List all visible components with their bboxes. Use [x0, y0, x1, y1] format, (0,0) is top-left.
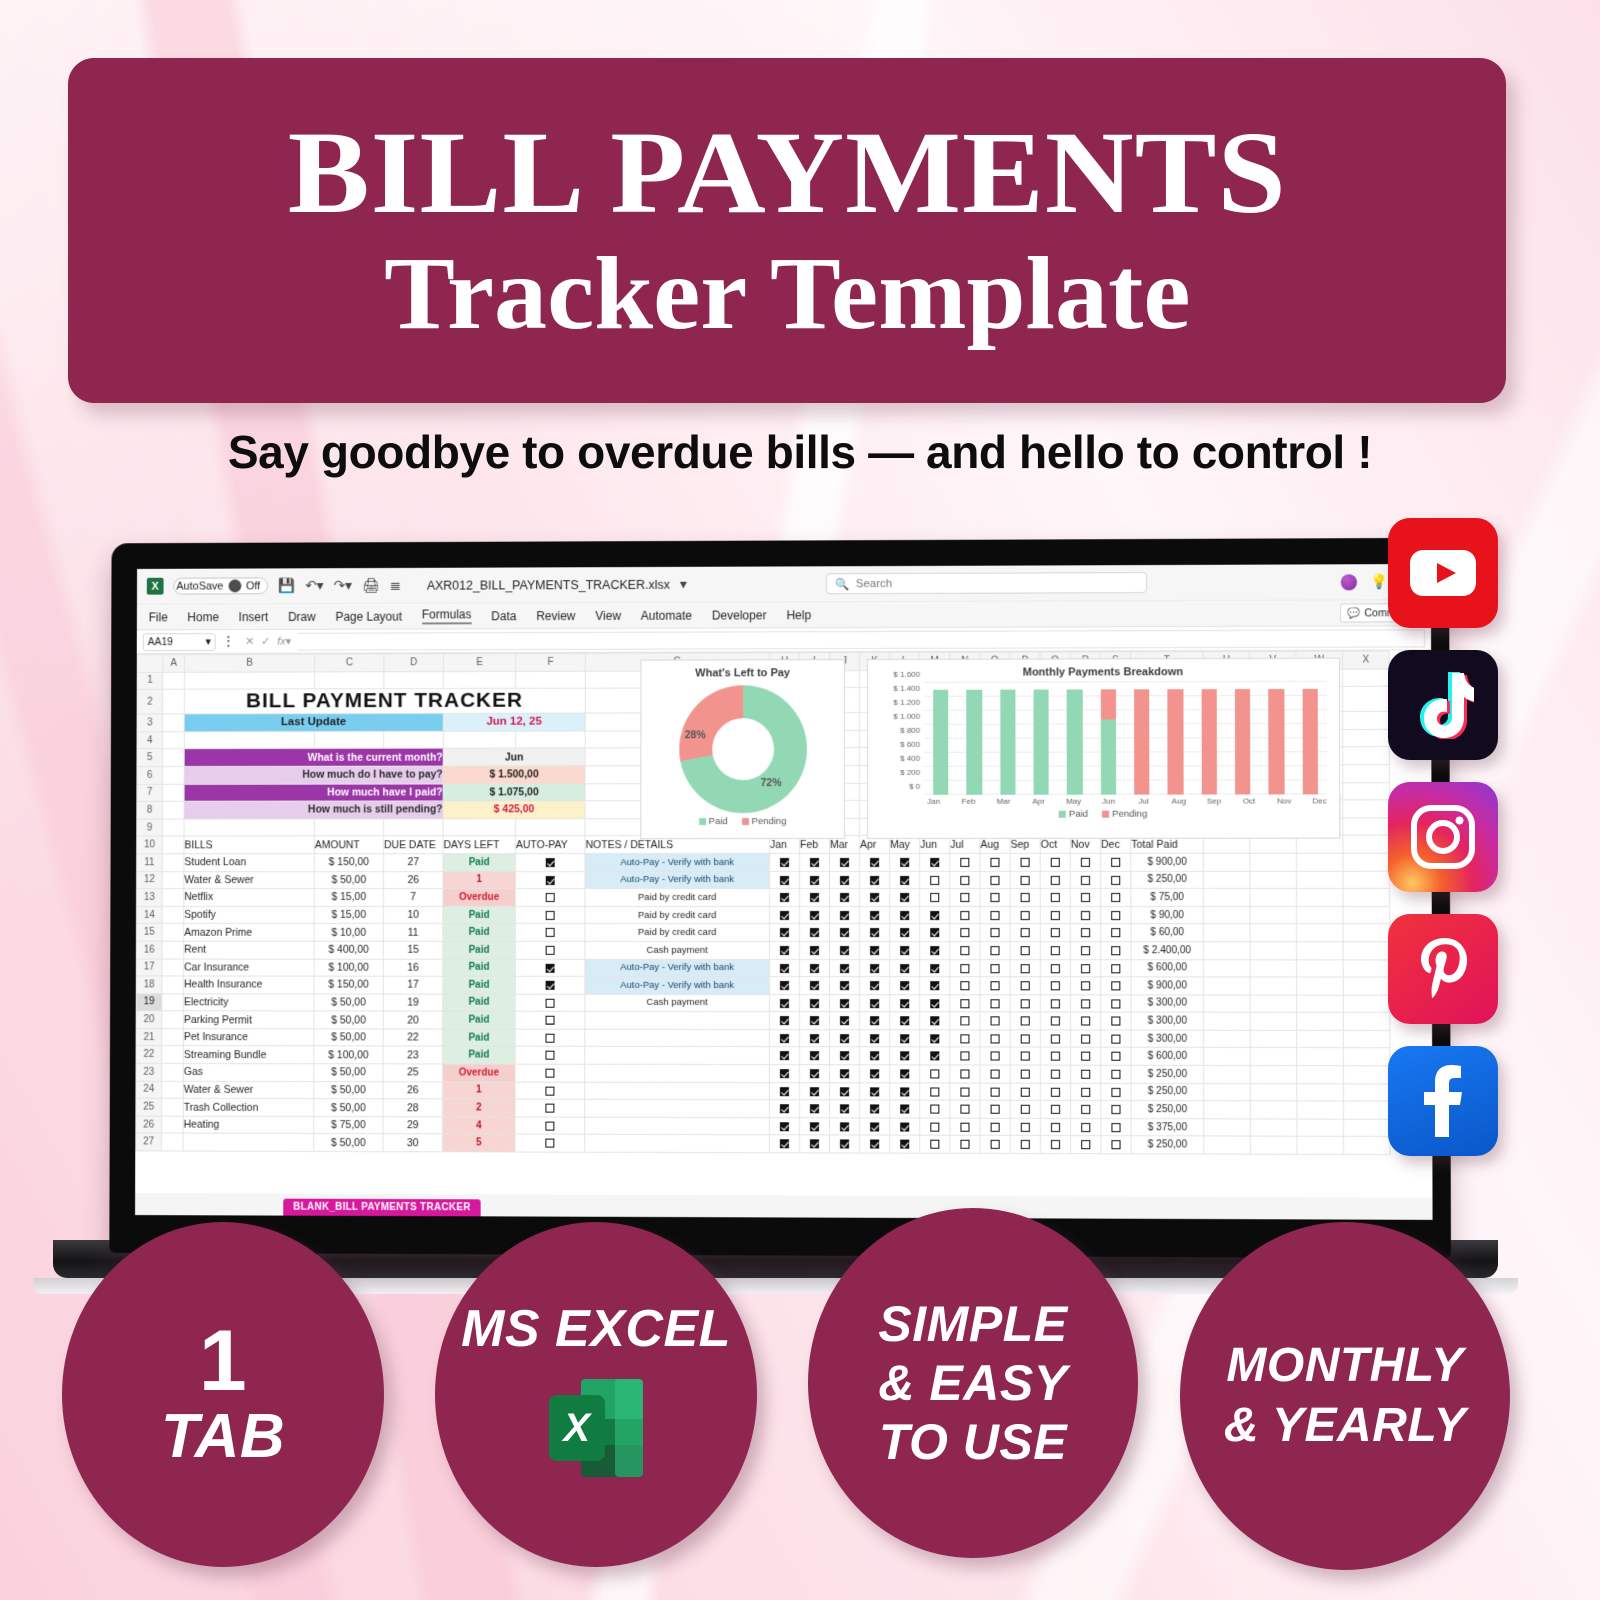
- cell-X[interactable]: [1343, 924, 1390, 942]
- cell-O[interactable]: [980, 889, 1010, 907]
- cell-H[interactable]: [769, 906, 799, 924]
- avatar[interactable]: [1340, 574, 1356, 590]
- cell-J[interactable]: [830, 906, 860, 924]
- cell-N[interactable]: [950, 994, 980, 1012]
- cell-I[interactable]: [799, 1135, 829, 1153]
- cell-P[interactable]: [1010, 853, 1040, 871]
- month-checkbox[interactable]: [1021, 964, 1030, 973]
- cell-U[interactable]: [1204, 995, 1251, 1013]
- month-checkbox[interactable]: [810, 1052, 819, 1061]
- cell-U[interactable]: [1204, 942, 1251, 960]
- cell-C[interactable]: $ 50,00: [314, 1099, 383, 1117]
- month-checkbox[interactable]: [1051, 1070, 1060, 1079]
- auto-pay-checkbox[interactable]: [546, 963, 555, 972]
- cell-S[interactable]: [1101, 853, 1131, 871]
- cell-E[interactable]: Overdue: [443, 1064, 516, 1082]
- ribbon-tab-data[interactable]: Data: [491, 609, 516, 623]
- month-checkbox[interactable]: [1111, 1034, 1120, 1043]
- cell-S[interactable]: [1101, 1065, 1131, 1083]
- cell-G[interactable]: [585, 1082, 770, 1100]
- save-icon[interactable]: 💾: [278, 577, 295, 594]
- auto-pay-checkbox[interactable]: [545, 1086, 554, 1095]
- cell-O[interactable]: [980, 1136, 1010, 1154]
- donut-chart[interactable]: What's Left to Pay 28% 72% Paid Pending: [640, 659, 845, 839]
- cell-H[interactable]: [769, 889, 799, 907]
- cell-A[interactable]: [163, 732, 185, 749]
- cell-X[interactable]: [1343, 906, 1390, 924]
- cell-R[interactable]: [1071, 1083, 1101, 1101]
- month-checkbox[interactable]: [930, 1087, 939, 1096]
- month-checkbox[interactable]: [1111, 999, 1120, 1008]
- month-checkbox[interactable]: [810, 1140, 819, 1149]
- month-checkbox[interactable]: [810, 1069, 819, 1078]
- cell-G[interactable]: Cash payment: [585, 941, 770, 959]
- cell-M[interactable]: [920, 1030, 950, 1048]
- cell-X[interactable]: [1343, 871, 1390, 889]
- print-preview-icon[interactable]: 🖨: [362, 577, 380, 594]
- month-checkbox[interactable]: [930, 911, 939, 920]
- cell-K[interactable]: [860, 1030, 890, 1048]
- cell-W[interactable]: [1297, 977, 1344, 995]
- cell-V[interactable]: [1250, 942, 1297, 960]
- month-checkbox[interactable]: [930, 1140, 939, 1149]
- cell-A[interactable]: [162, 1046, 184, 1064]
- cell-S[interactable]: [1101, 959, 1131, 977]
- ribbon-tab-review[interactable]: Review: [536, 609, 575, 623]
- month-checkbox[interactable]: [960, 964, 969, 973]
- cell-D[interactable]: 23: [383, 1046, 443, 1064]
- cell-M[interactable]: [920, 941, 950, 959]
- month-checkbox[interactable]: [930, 1034, 939, 1043]
- auto-pay-checkbox[interactable]: [546, 928, 555, 937]
- cell-B[interactable]: Last Update: [184, 714, 443, 732]
- month-checkbox[interactable]: [1021, 946, 1030, 955]
- cell-A[interactable]: [162, 906, 184, 923]
- cell-L[interactable]: [890, 1030, 920, 1048]
- cell-K[interactable]: [860, 994, 890, 1012]
- row-header-8[interactable]: 8: [137, 801, 163, 818]
- cell-E[interactable]: Paid: [443, 941, 516, 959]
- more-commands-icon[interactable]: ≣: [389, 577, 401, 594]
- month-checkbox[interactable]: [870, 928, 879, 937]
- cell-O[interactable]: [980, 924, 1010, 942]
- cell-I[interactable]: [799, 924, 829, 942]
- cell-M[interactable]: [920, 959, 950, 977]
- month-checkbox[interactable]: [1081, 911, 1090, 920]
- cell-N[interactable]: [950, 924, 980, 942]
- cell-F[interactable]: [515, 994, 585, 1012]
- cell-B[interactable]: BILL PAYMENT TRACKER: [184, 688, 585, 714]
- row-header-10[interactable]: 10: [137, 836, 163, 853]
- cell-T[interactable]: $ 375,00: [1131, 1118, 1204, 1136]
- month-checkbox[interactable]: [1081, 999, 1090, 1008]
- ribbon-tab-help[interactable]: Help: [786, 608, 811, 622]
- cell-C[interactable]: $ 100,00: [314, 1046, 383, 1064]
- cell-E[interactable]: 5: [442, 1134, 515, 1152]
- month-checkbox[interactable]: [810, 1034, 819, 1043]
- cell-O[interactable]: [980, 959, 1010, 977]
- month-checkbox[interactable]: [780, 981, 789, 990]
- cell-N[interactable]: [950, 1030, 980, 1048]
- cell-J[interactable]: [830, 924, 860, 942]
- month-checkbox[interactable]: [900, 893, 909, 902]
- cell-A[interactable]: [162, 941, 184, 958]
- cell-S[interactable]: [1101, 1012, 1131, 1030]
- cell-V[interactable]: [1250, 1101, 1297, 1119]
- month-checkbox[interactable]: [900, 964, 909, 973]
- cell-T[interactable]: $ 300,00: [1131, 995, 1204, 1013]
- month-checkbox[interactable]: [1021, 875, 1030, 884]
- cell-D[interactable]: 17: [383, 976, 443, 994]
- month-checkbox[interactable]: [991, 1070, 1000, 1079]
- cell-V[interactable]: [1250, 1030, 1297, 1048]
- month-checkbox[interactable]: [1021, 893, 1030, 902]
- bar-chart[interactable]: Monthly Payments Breakdown $ 0$ 200$ 400…: [867, 658, 1340, 839]
- cell-O[interactable]: [980, 1100, 1010, 1118]
- cell-X[interactable]: [1343, 1084, 1390, 1102]
- cell-E[interactable]: Paid: [443, 976, 516, 994]
- cell-X[interactable]: [1343, 800, 1390, 818]
- ribbon-tab-insert[interactable]: Insert: [239, 610, 269, 624]
- month-checkbox[interactable]: [930, 893, 939, 902]
- cell-J[interactable]: [830, 871, 860, 889]
- cell-B[interactable]: Netflix: [184, 889, 314, 906]
- cell-D[interactable]: 27: [383, 854, 442, 872]
- cell-W[interactable]: [1297, 1066, 1344, 1084]
- cell-H[interactable]: [770, 853, 800, 871]
- cell-P[interactable]: [1010, 977, 1040, 995]
- cell-B[interactable]: Health Insurance: [184, 976, 314, 994]
- cell-O[interactable]: [980, 906, 1010, 924]
- month-checkbox[interactable]: [900, 1034, 909, 1043]
- cell-N[interactable]: [950, 1065, 980, 1083]
- month-checkbox[interactable]: [991, 1034, 1000, 1043]
- cell-A[interactable]: [162, 819, 184, 836]
- cell-K[interactable]: [860, 853, 890, 871]
- column-header-C[interactable]: C: [315, 654, 384, 672]
- cell-E[interactable]: Jun 12, 25: [443, 713, 585, 731]
- cell-K[interactable]: [860, 871, 890, 889]
- cell-A[interactable]: [163, 689, 185, 714]
- month-checkbox[interactable]: [810, 1016, 819, 1025]
- cell-V[interactable]: [1250, 871, 1297, 889]
- month-checkbox[interactable]: [960, 1052, 969, 1061]
- month-checkbox[interactable]: [1081, 875, 1090, 884]
- cell-B[interactable]: Water & Sewer: [184, 871, 314, 889]
- cell-W[interactable]: [1297, 1119, 1344, 1137]
- month-checkbox[interactable]: [930, 946, 939, 955]
- cell-I[interactable]: [799, 959, 829, 977]
- month-checkbox[interactable]: [960, 858, 969, 867]
- cell-A[interactable]: [162, 1081, 184, 1099]
- cell-D[interactable]: 29: [383, 1117, 443, 1135]
- cell-U[interactable]: [1204, 1136, 1251, 1154]
- row-header-18[interactable]: 18: [136, 976, 162, 994]
- cell-B[interactable]: What is the current month?: [184, 749, 443, 767]
- cell-F[interactable]: [515, 1029, 585, 1047]
- month-checkbox[interactable]: [1051, 893, 1060, 902]
- month-checkbox[interactable]: [1111, 858, 1120, 867]
- cell-V[interactable]: [1250, 1048, 1297, 1066]
- cell-K[interactable]: [860, 1012, 890, 1030]
- file-name[interactable]: AXR012_BILL_PAYMENTS_TRACKER.xlsx: [427, 577, 670, 592]
- cell-J[interactable]: [830, 1082, 860, 1100]
- cell-F[interactable]: [515, 924, 585, 942]
- month-checkbox[interactable]: [1021, 1017, 1030, 1026]
- cell-U[interactable]: [1204, 1030, 1251, 1048]
- spreadsheet-grid[interactable]: ABCDEFGHIJKLMNOPQRSTUVWX 12BILL PAYMENT …: [135, 650, 1432, 1197]
- cell-D[interactable]: DUE DATE: [384, 836, 443, 854]
- tiktok-icon[interactable]: [1388, 650, 1498, 760]
- month-checkbox[interactable]: [870, 1052, 879, 1061]
- cell-T[interactable]: $ 250,00: [1131, 1101, 1204, 1119]
- cell-A[interactable]: [162, 959, 184, 976]
- cell-U[interactable]: [1203, 853, 1249, 871]
- month-checkbox[interactable]: [1081, 1123, 1090, 1132]
- column-header-D[interactable]: D: [384, 654, 443, 672]
- month-checkbox[interactable]: [1051, 1052, 1060, 1061]
- cell-B[interactable]: Spotify: [184, 906, 314, 924]
- cell-C[interactable]: $ 50,00: [314, 1081, 383, 1099]
- column-header-E[interactable]: E: [443, 654, 515, 672]
- cell-J[interactable]: [829, 1135, 859, 1153]
- cell-Q[interactable]: [1040, 1101, 1070, 1119]
- cell-E[interactable]: Overdue: [443, 889, 515, 907]
- cell-A[interactable]: [163, 714, 185, 731]
- cell-O[interactable]: [980, 977, 1010, 995]
- cell-M[interactable]: [920, 889, 950, 907]
- month-checkbox[interactable]: [840, 964, 849, 973]
- month-checkbox[interactable]: [900, 911, 909, 920]
- sheet-tab[interactable]: BLANK_BILL PAYMENTS TRACKER: [283, 1199, 480, 1217]
- cell-P[interactable]: [1010, 906, 1040, 924]
- cell-V[interactable]: [1250, 959, 1297, 977]
- month-checkbox[interactable]: [1081, 928, 1090, 937]
- month-checkbox[interactable]: [870, 999, 879, 1008]
- cell-Q[interactable]: [1040, 1118, 1070, 1136]
- cell-I[interactable]: [799, 994, 829, 1012]
- cell-X[interactable]: [1343, 853, 1390, 871]
- cell-T[interactable]: $ 2.400,00: [1131, 942, 1204, 960]
- cell-U[interactable]: [1204, 1012, 1251, 1030]
- cell-J[interactable]: [830, 1118, 860, 1136]
- month-checkbox[interactable]: [810, 999, 819, 1008]
- row-header-20[interactable]: 20: [136, 1011, 162, 1029]
- cell-E[interactable]: Paid: [443, 1029, 516, 1047]
- cell-K[interactable]: [860, 1082, 890, 1100]
- cell-M[interactable]: [920, 1136, 950, 1154]
- cell-K[interactable]: [860, 1100, 890, 1118]
- row-header-26[interactable]: 26: [136, 1116, 162, 1134]
- ribbon-tab-home[interactable]: Home: [187, 610, 219, 624]
- month-checkbox[interactable]: [930, 981, 939, 990]
- cell-B[interactable]: How much is still pending?: [184, 801, 443, 819]
- cell-H[interactable]: [769, 1012, 799, 1030]
- cell-Q[interactable]: [1040, 1030, 1070, 1048]
- cell-K[interactable]: [860, 977, 890, 995]
- cell-U[interactable]: [1204, 924, 1251, 942]
- cell-I[interactable]: [799, 1118, 829, 1136]
- cell-J[interactable]: [830, 853, 860, 871]
- cell-X[interactable]: [1343, 1119, 1390, 1137]
- month-checkbox[interactable]: [991, 981, 1000, 990]
- cell-X[interactable]: [1343, 782, 1390, 800]
- month-checkbox[interactable]: [1111, 981, 1120, 990]
- cell-N[interactable]: [950, 1047, 980, 1065]
- cell-B[interactable]: [183, 1134, 314, 1152]
- month-checkbox[interactable]: [1051, 1123, 1060, 1132]
- cell-E[interactable]: Jun: [443, 748, 585, 766]
- auto-pay-checkbox[interactable]: [546, 876, 555, 885]
- cell-S[interactable]: [1101, 924, 1131, 942]
- cell-C[interactable]: [315, 671, 384, 689]
- cell-T[interactable]: $ 300,00: [1131, 1012, 1204, 1030]
- auto-pay-checkbox[interactable]: [546, 946, 555, 955]
- month-checkbox[interactable]: [1051, 946, 1060, 955]
- cell-B[interactable]: Trash Collection: [183, 1099, 314, 1117]
- cell-L[interactable]: [890, 1065, 920, 1083]
- cell-Q[interactable]: [1040, 1083, 1070, 1101]
- month-checkbox[interactable]: [870, 981, 879, 990]
- cell-T[interactable]: $ 250,00: [1131, 1083, 1204, 1101]
- cell-R[interactable]: [1070, 924, 1100, 942]
- cell-E[interactable]: Paid: [443, 1011, 516, 1029]
- cell-C[interactable]: $ 15,00: [314, 906, 383, 924]
- month-checkbox[interactable]: [810, 1105, 819, 1114]
- cell-M[interactable]: [920, 1012, 950, 1030]
- cell-D[interactable]: 20: [383, 1011, 443, 1029]
- month-checkbox[interactable]: [1081, 1087, 1090, 1096]
- cell-S[interactable]: [1101, 1118, 1131, 1136]
- month-checkbox[interactable]: [930, 928, 939, 937]
- cell-S[interactable]: [1101, 977, 1131, 995]
- cell-L[interactable]: [890, 889, 920, 907]
- cell-P[interactable]: [1010, 1118, 1040, 1136]
- cell-L[interactable]: [890, 1100, 920, 1118]
- cell-B[interactable]: BILLS: [184, 836, 314, 854]
- cell-G[interactable]: Auto-Pay - Verify with bank: [585, 871, 770, 889]
- cell-X[interactable]: [1343, 729, 1390, 747]
- cell-R[interactable]: [1071, 1065, 1101, 1083]
- month-checkbox[interactable]: [870, 876, 879, 885]
- cell-J[interactable]: [830, 994, 860, 1012]
- cell-K[interactable]: [860, 1047, 890, 1065]
- month-checkbox[interactable]: [840, 1016, 849, 1025]
- month-checkbox[interactable]: [780, 1034, 789, 1043]
- cell-P[interactable]: [1010, 1083, 1040, 1101]
- cell-B[interactable]: Rent: [184, 941, 314, 959]
- month-checkbox[interactable]: [780, 1122, 789, 1131]
- function-icon[interactable]: fx▾: [277, 635, 291, 648]
- month-checkbox[interactable]: [1021, 1070, 1030, 1079]
- row-header-4[interactable]: 4: [137, 732, 163, 749]
- month-checkbox[interactable]: [900, 1087, 909, 1096]
- cell-V[interactable]: [1250, 889, 1297, 907]
- cell-P[interactable]: [1010, 1030, 1040, 1048]
- cell-I[interactable]: [799, 941, 829, 959]
- cell-Q[interactable]: [1040, 871, 1070, 889]
- cell-A[interactable]: [162, 994, 184, 1012]
- autosave-toggle[interactable]: AutoSave Off: [173, 577, 268, 594]
- cell-N[interactable]: [950, 1012, 980, 1030]
- month-checkbox[interactable]: [1111, 1052, 1120, 1061]
- month-checkbox[interactable]: [1111, 946, 1120, 955]
- month-checkbox[interactable]: [930, 858, 939, 867]
- youtube-icon[interactable]: [1388, 518, 1498, 628]
- cell-E[interactable]: [443, 819, 515, 837]
- cell-T[interactable]: $ 60,00: [1131, 924, 1204, 942]
- cell-J[interactable]: [830, 1030, 860, 1048]
- cell-K[interactable]: [860, 924, 890, 942]
- cell-O[interactable]: [980, 1083, 1010, 1101]
- cell-H[interactable]: [769, 994, 799, 1012]
- month-checkbox[interactable]: [780, 1069, 789, 1078]
- month-checkbox[interactable]: [900, 1052, 909, 1061]
- cell-G[interactable]: [585, 1012, 770, 1030]
- row-header-5[interactable]: 5: [137, 749, 163, 766]
- cell-U[interactable]: [1204, 1066, 1251, 1084]
- month-checkbox[interactable]: [1051, 981, 1060, 990]
- cell-W[interactable]: [1297, 1048, 1344, 1066]
- cell-N[interactable]: [950, 1100, 980, 1118]
- month-checkbox[interactable]: [1051, 1105, 1060, 1114]
- month-checkbox[interactable]: [991, 999, 1000, 1008]
- cell-I[interactable]: [799, 1082, 829, 1100]
- cell-C[interactable]: $ 50,00: [314, 994, 383, 1012]
- cell-D[interactable]: 22: [383, 1029, 443, 1047]
- month-checkbox[interactable]: [1021, 1123, 1030, 1132]
- cell-U[interactable]: [1204, 1048, 1251, 1066]
- cell-U[interactable]: [1204, 1083, 1251, 1101]
- cell-J[interactable]: [830, 977, 860, 995]
- cell-R[interactable]: [1070, 906, 1100, 924]
- cell-P[interactable]: [1010, 942, 1040, 960]
- cell-X[interactable]: [1343, 942, 1390, 960]
- cell-F[interactable]: [515, 959, 585, 977]
- month-checkbox[interactable]: [1081, 1034, 1090, 1043]
- month-checkbox[interactable]: [990, 928, 999, 937]
- month-checkbox[interactable]: [870, 911, 879, 920]
- cell-E[interactable]: Paid: [443, 994, 516, 1012]
- month-checkbox[interactable]: [840, 858, 849, 867]
- cell-E[interactable]: 1: [443, 871, 515, 889]
- month-checkbox[interactable]: [930, 876, 939, 885]
- cell-Q[interactable]: [1040, 959, 1070, 977]
- row-header-21[interactable]: 21: [136, 1028, 162, 1046]
- cell-M[interactable]: [920, 1118, 950, 1136]
- cell-A[interactable]: [162, 801, 184, 818]
- auto-pay-checkbox[interactable]: [546, 981, 555, 990]
- cell-B[interactable]: Amazon Prime: [184, 924, 314, 942]
- month-checkbox[interactable]: [960, 981, 969, 990]
- month-checkbox[interactable]: [991, 1017, 1000, 1026]
- instagram-icon[interactable]: [1388, 782, 1498, 892]
- cell-D[interactable]: 16: [383, 959, 443, 977]
- cell-M[interactable]: [920, 871, 950, 889]
- cell-R[interactable]: [1071, 1101, 1101, 1119]
- month-checkbox[interactable]: [870, 946, 879, 955]
- cell-B[interactable]: Water & Sewer: [183, 1081, 313, 1099]
- month-checkbox[interactable]: [990, 946, 999, 955]
- select-all-corner[interactable]: [137, 655, 163, 672]
- cell-I[interactable]: [800, 853, 830, 871]
- month-checkbox[interactable]: [1051, 1140, 1060, 1149]
- month-checkbox[interactable]: [780, 1052, 789, 1061]
- row-header-1[interactable]: 1: [137, 672, 163, 689]
- cell-M[interactable]: [920, 1083, 950, 1101]
- month-checkbox[interactable]: [870, 1016, 879, 1025]
- cell-L[interactable]: [890, 1012, 920, 1030]
